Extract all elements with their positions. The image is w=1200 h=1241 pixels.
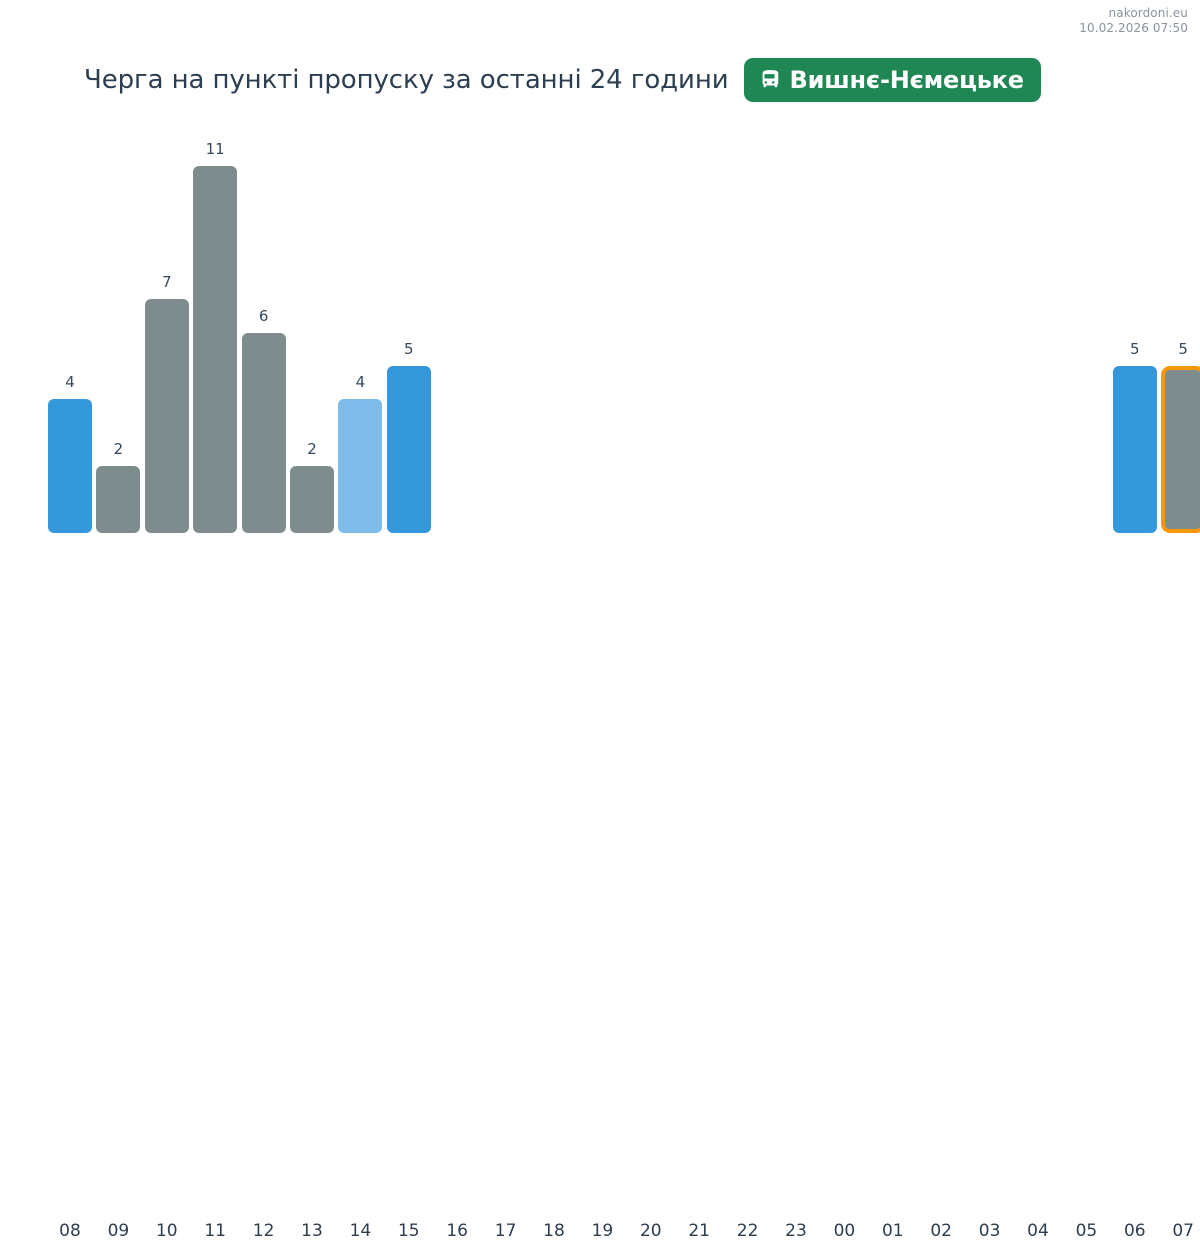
- bar-value-13: 2: [290, 442, 334, 457]
- bar-value-06: 5: [1113, 342, 1157, 357]
- bar-value-11: 11: [193, 142, 237, 157]
- x-tick-14: 14: [338, 1223, 382, 1240]
- bar-value-14: 4: [338, 375, 382, 390]
- bar-11[interactable]: [193, 166, 237, 533]
- bar-08[interactable]: [48, 399, 92, 533]
- bar-15[interactable]: [387, 366, 431, 533]
- x-tick-20: 20: [629, 1223, 673, 1240]
- x-tick-19: 19: [580, 1223, 624, 1240]
- bar-12[interactable]: [242, 333, 286, 533]
- x-tick-00: 00: [822, 1223, 866, 1240]
- bar-value-07: 5: [1161, 342, 1200, 357]
- x-tick-12: 12: [242, 1223, 286, 1240]
- x-tick-17: 17: [484, 1223, 528, 1240]
- x-tick-01: 01: [871, 1223, 915, 1240]
- x-tick-09: 09: [96, 1223, 140, 1240]
- x-tick-10: 10: [145, 1223, 189, 1240]
- bar-07[interactable]: [1161, 366, 1200, 533]
- bar-06[interactable]: [1113, 366, 1157, 533]
- x-tick-04: 04: [1016, 1223, 1060, 1240]
- x-tick-05: 05: [1064, 1223, 1108, 1240]
- bar-value-08: 4: [48, 375, 92, 390]
- bar-value-12: 6: [242, 309, 286, 324]
- x-tick-21: 21: [677, 1223, 721, 1240]
- x-tick-13: 13: [290, 1223, 334, 1240]
- x-tick-15: 15: [387, 1223, 431, 1240]
- x-tick-23: 23: [774, 1223, 818, 1240]
- bar-09[interactable]: [96, 466, 140, 533]
- x-tick-08: 08: [48, 1223, 92, 1240]
- bar-10[interactable]: [145, 299, 189, 533]
- x-tick-02: 02: [919, 1223, 963, 1240]
- x-tick-22: 22: [726, 1223, 770, 1240]
- bar-value-15: 5: [387, 342, 431, 357]
- x-tick-07: 07: [1161, 1223, 1200, 1240]
- x-tick-16: 16: [435, 1223, 479, 1240]
- bar-14[interactable]: [338, 399, 382, 533]
- x-tick-06: 06: [1113, 1223, 1157, 1240]
- bar-value-10: 7: [145, 275, 189, 290]
- x-tick-11: 11: [193, 1223, 237, 1240]
- bar-value-09: 2: [96, 442, 140, 457]
- x-tick-18: 18: [532, 1223, 576, 1240]
- queue-bar-chart: 4082097101111612213414515161718192021222…: [0, 0, 1200, 651]
- bar-13[interactable]: [290, 466, 334, 533]
- x-tick-03: 03: [968, 1223, 1012, 1240]
